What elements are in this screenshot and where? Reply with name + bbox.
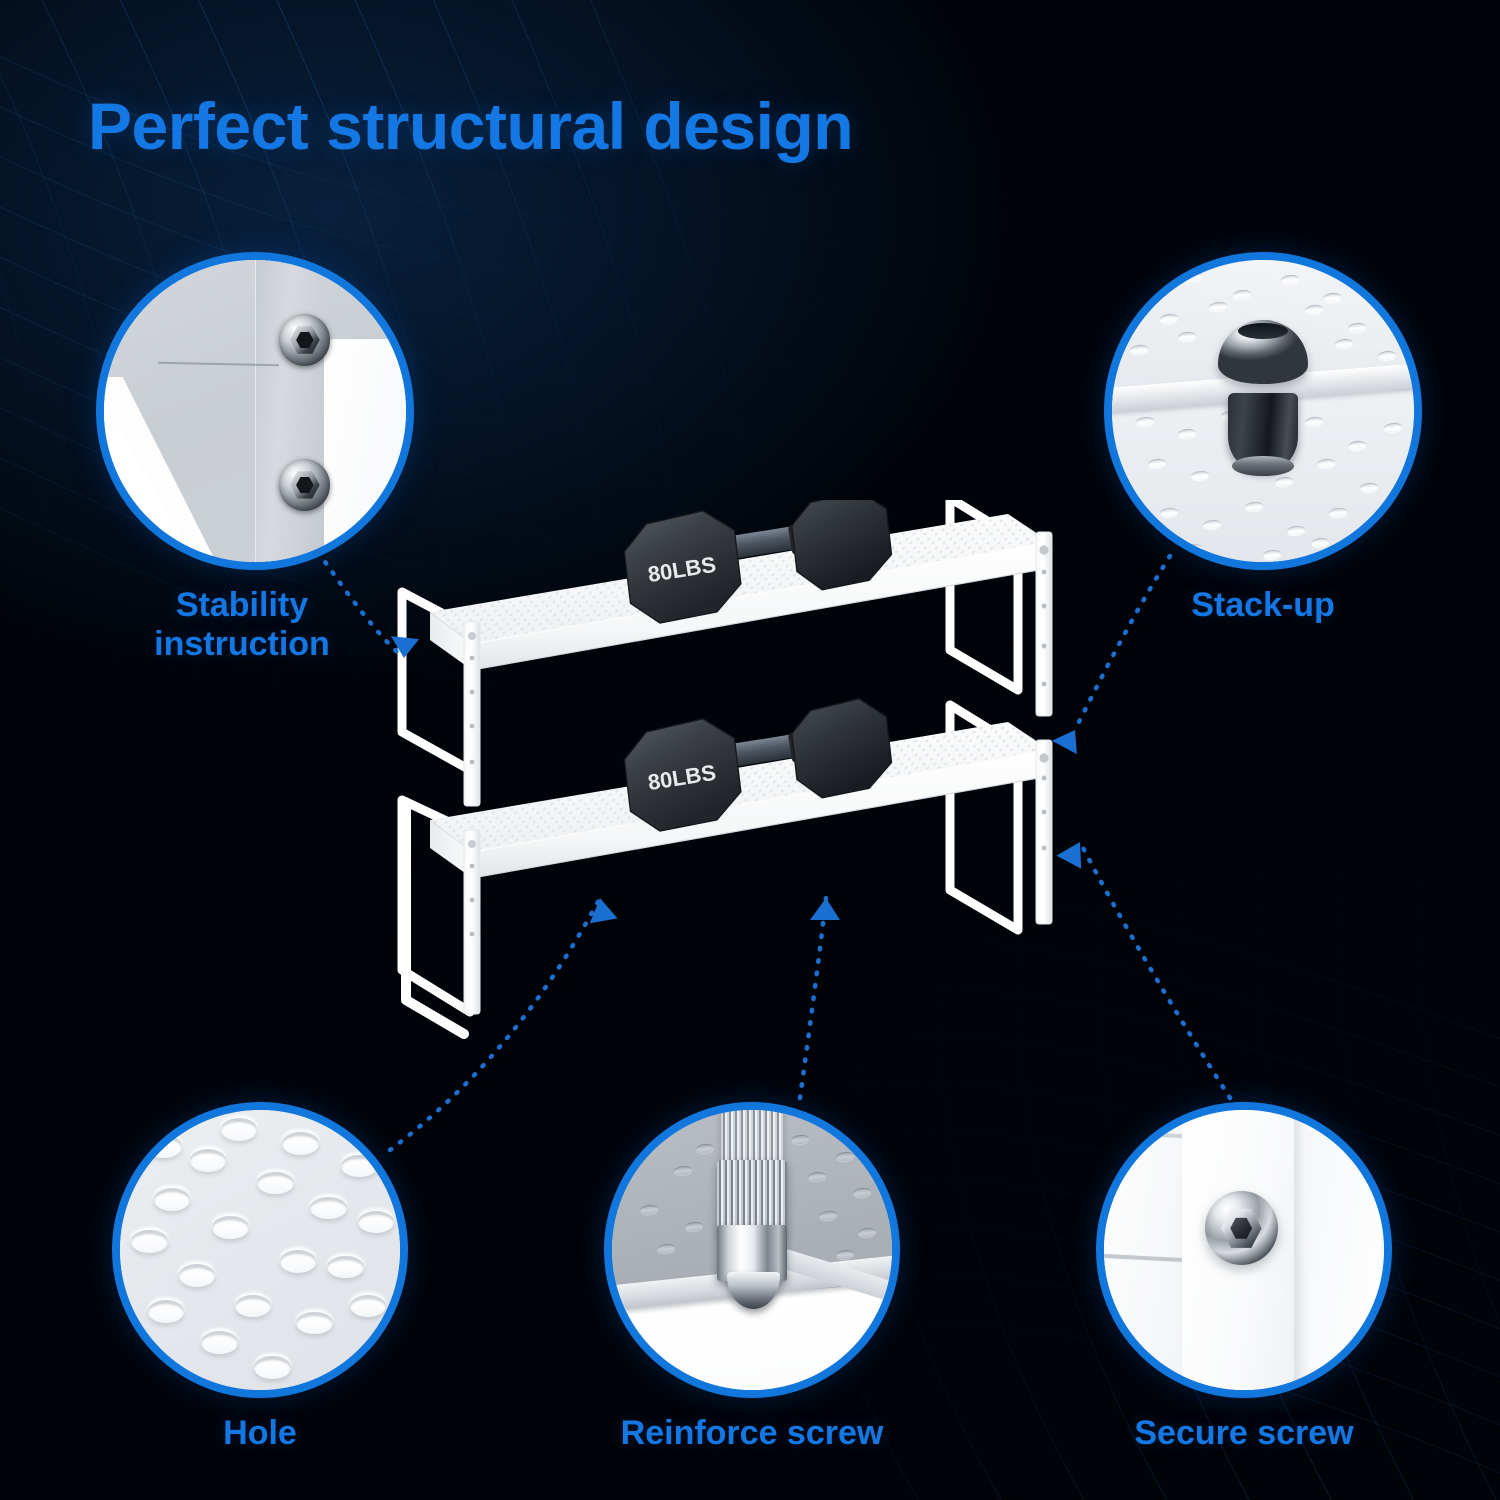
shelf-hole [280, 1250, 316, 1273]
callout-label-reinforce: Reinforce screw [604, 1414, 900, 1452]
shelf-hole [350, 1295, 386, 1318]
hole-detail-bubble [112, 1102, 408, 1398]
infographic-canvas: Perfect structural design Stability inst… [0, 0, 1500, 1500]
shelf-hole [327, 1256, 363, 1279]
shelf-hole [257, 1172, 293, 1195]
callout-reinforce-screw[interactable]: Reinforce screw [604, 1102, 900, 1452]
callout-label-hole: Hole [112, 1414, 408, 1452]
callout-label-stackup: Stack-up [1104, 586, 1422, 624]
shelf-hole [148, 1300, 184, 1323]
label-line: Stability [92, 586, 392, 625]
stackup-detail-bubble [1104, 252, 1422, 570]
shelf-hole [212, 1216, 248, 1239]
shelf-hole [254, 1356, 290, 1379]
shelf-hole [201, 1331, 237, 1354]
page-title: Perfect structural design [88, 88, 853, 164]
callout-stability-instruction[interactable]: Stability instruction [96, 252, 414, 665]
callout-hole[interactable]: Hole [112, 1102, 408, 1452]
label-line: instruction [92, 625, 392, 664]
shelf-hole [310, 1197, 346, 1220]
shelf-hole [179, 1264, 215, 1287]
callout-label-stability: Stability instruction [92, 586, 392, 665]
shelf-hole [221, 1118, 257, 1141]
shelf-hole [235, 1295, 271, 1318]
perforated-plate-icon [120, 1110, 400, 1390]
shelf-hole [190, 1149, 226, 1172]
hex-screw-icon [279, 459, 330, 510]
hex-screw-icon [279, 314, 330, 365]
shelf-hole [131, 1230, 167, 1253]
reinforce-detail-bubble [604, 1102, 900, 1398]
shelf-hole [145, 1135, 181, 1158]
shelf-hole [296, 1312, 332, 1335]
callout-stack-up[interactable]: Stack-up [1104, 252, 1422, 624]
ball-stud-icon [1112, 260, 1414, 562]
stability-detail-bubble [96, 252, 414, 570]
shelf-hole [341, 1155, 377, 1178]
hex-screw-bracket-icon [104, 260, 406, 562]
knurled-screw-icon [612, 1110, 892, 1390]
secure-detail-bubble [1096, 1102, 1392, 1398]
hex-screw-icon [1205, 1191, 1278, 1265]
callout-label-secure: Secure screw [1096, 1414, 1392, 1452]
shelf-hole [154, 1188, 190, 1211]
callout-secure-screw[interactable]: Secure screw [1096, 1102, 1392, 1452]
shelf-hole [282, 1132, 318, 1155]
product-illustration-shelf-rack: 80LBS 80LBS [390, 500, 1110, 1100]
shelf-hole [358, 1211, 394, 1234]
hex-socket-screw-icon [1104, 1110, 1384, 1390]
